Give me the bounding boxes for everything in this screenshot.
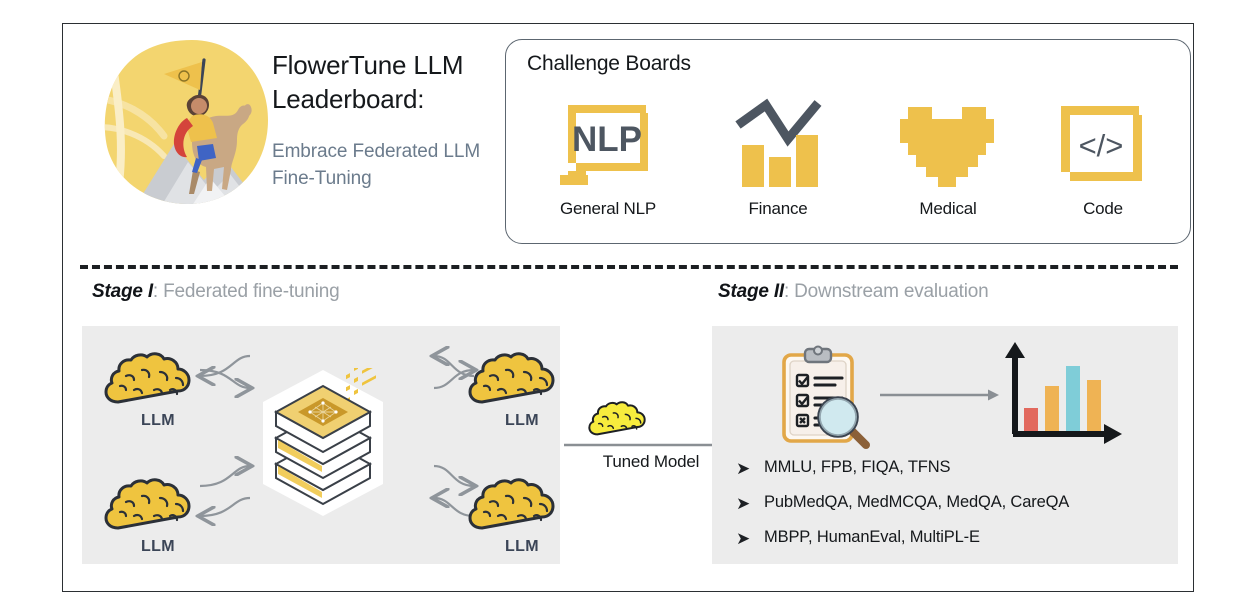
code-brackets-icon: </> (1028, 95, 1178, 195)
llm-node-top-left: LLM (104, 352, 212, 430)
bullet-arrow-icon: ➤ (736, 495, 754, 513)
challenge-boards-title: Challenge Boards (527, 52, 691, 76)
stage-two-key: Stage II (718, 281, 784, 302)
stage-two-header: Stage II: Downstream evaluation (718, 281, 989, 303)
results-bar-chart-icon (1000, 340, 1126, 450)
stage-one-header: Stage I: Federated fine-tuning (92, 281, 340, 303)
llm-node-label: LLM (104, 412, 212, 430)
list-item: ➤ MMLU, FPB, FIQA, TFNS (736, 455, 1166, 490)
llm-node-label: LLM (104, 538, 212, 556)
llm-node-label: LLM (468, 412, 576, 430)
evaluation-arrow (880, 388, 1000, 402)
bullet-arrow-icon: ➤ (736, 530, 754, 548)
evaluation-benchmarks-list: ➤ MMLU, FPB, FIQA, TFNS ➤ PubMedQA, MedM… (736, 455, 1166, 560)
brain-icon (468, 352, 576, 406)
clipboard-magnifier-icon (772, 345, 880, 453)
nlp-badge-text: NLP (572, 120, 642, 159)
list-item-label: MBPP, HumanEval, MultiPL-E (764, 528, 980, 547)
list-item-label: MMLU, FPB, FIQA, TFNS (764, 458, 950, 477)
stage-two-sep: : (784, 281, 794, 302)
code-badge-text: </> (1079, 128, 1124, 163)
board-item-medical[interactable]: Medical (873, 95, 1023, 235)
page-subtitle: Embrace Federated LLM Fine-Tuning (272, 138, 504, 192)
dashed-divider (80, 265, 1178, 269)
page-title: FlowerTune LLM Leaderboard: (272, 48, 500, 116)
list-item: ➤ PubMedQA, MedMCQA, MedQA, CareQA (736, 490, 1166, 525)
tuned-model-label: Tuned Model (566, 452, 736, 472)
federated-server-stack-icon (258, 368, 388, 518)
llm-node-label: LLM (468, 538, 576, 556)
llm-node-bottom-right: LLM (468, 478, 576, 556)
llm-node-top-right: LLM (468, 352, 576, 430)
board-item-code[interactable]: </> Code (1028, 95, 1178, 235)
list-item-label: PubMedQA, MedMCQA, MedQA, CareQA (764, 493, 1069, 512)
stage-two-value: Downstream evaluation (794, 281, 988, 302)
board-item-general-nlp[interactable]: NLP General NLP (533, 95, 683, 235)
stage-one-sep: : (153, 281, 163, 302)
bullet-arrow-icon: ➤ (736, 460, 754, 478)
stage-one-value: Federated fine-tuning (163, 281, 339, 302)
brain-icon (468, 478, 576, 532)
llm-node-bottom-left: LLM (104, 478, 212, 556)
board-item-finance[interactable]: Finance (703, 95, 853, 235)
stage-one-key: Stage I (92, 281, 153, 302)
board-label: General NLP (533, 199, 683, 219)
board-label: Code (1028, 199, 1178, 219)
flower-rider-llama-illustration (88, 32, 284, 222)
figure-root: FlowerTune LLM Leaderboard: Embrace Fede… (0, 0, 1256, 616)
nlp-speech-board-icon: NLP (533, 95, 683, 195)
board-label: Medical (873, 199, 1023, 219)
finance-bar-chart-icon (703, 95, 853, 195)
brain-icon (588, 400, 660, 438)
list-item: ➤ MBPP, HumanEval, MultiPL-E (736, 525, 1166, 560)
pixel-heart-icon (873, 95, 1023, 195)
board-label: Finance (703, 199, 853, 219)
brain-icon (104, 352, 212, 406)
brain-icon (104, 478, 212, 532)
